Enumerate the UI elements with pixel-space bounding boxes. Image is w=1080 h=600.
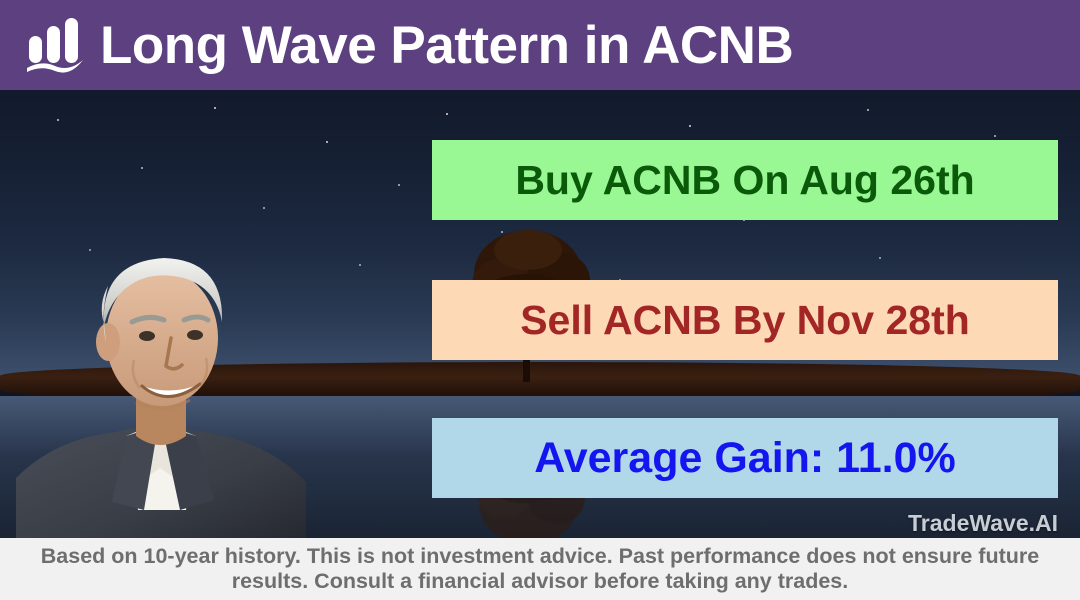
callout-buy-label: Buy ACNB On Aug 26th xyxy=(515,157,974,204)
callout-sell-label: Sell ACNB By Nov 28th xyxy=(520,297,970,344)
footer-bar: Based on 10-year history. This is not in… xyxy=(0,538,1080,600)
header-bar: Long Wave Pattern in ACNB xyxy=(0,0,1080,90)
businessman-photo xyxy=(8,210,338,538)
callout-sell: Sell ACNB By Nov 28th xyxy=(432,280,1058,360)
callout-buy: Buy ACNB On Aug 26th xyxy=(432,140,1058,220)
poster-canvas: Long Wave Pattern in ACNB Buy ACNB On Au… xyxy=(0,0,1080,600)
brand-watermark: TradeWave.AI xyxy=(908,510,1058,537)
page-title: Long Wave Pattern in ACNB xyxy=(100,19,793,72)
disclaimer-text: Based on 10-year history. This is not in… xyxy=(0,544,1080,594)
bar-chart-wave-logo-icon xyxy=(24,16,86,74)
callout-average-gain: Average Gain: 11.0% xyxy=(432,418,1058,498)
callout-gain-label: Average Gain: 11.0% xyxy=(534,434,955,483)
